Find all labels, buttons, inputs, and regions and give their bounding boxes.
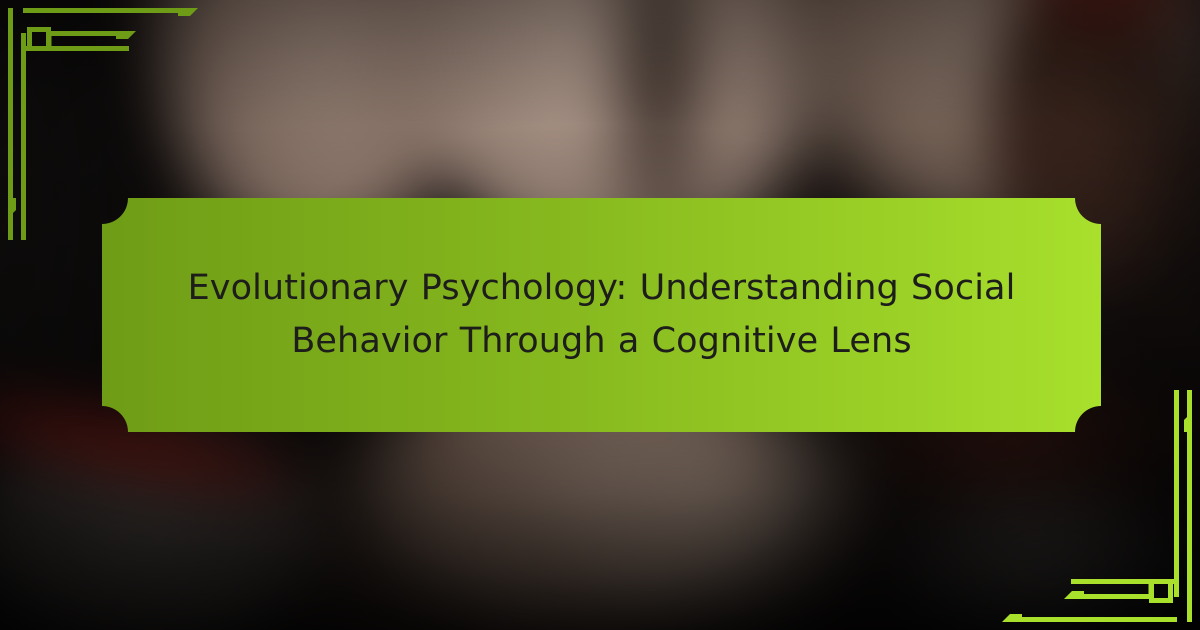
share-card-canvas: Evolutionary Psychology: Understanding S… bbox=[0, 0, 1200, 630]
title-card: Evolutionary Psychology: Understanding S… bbox=[102, 198, 1101, 432]
page-title: Evolutionary Psychology: Understanding S… bbox=[102, 262, 1101, 368]
